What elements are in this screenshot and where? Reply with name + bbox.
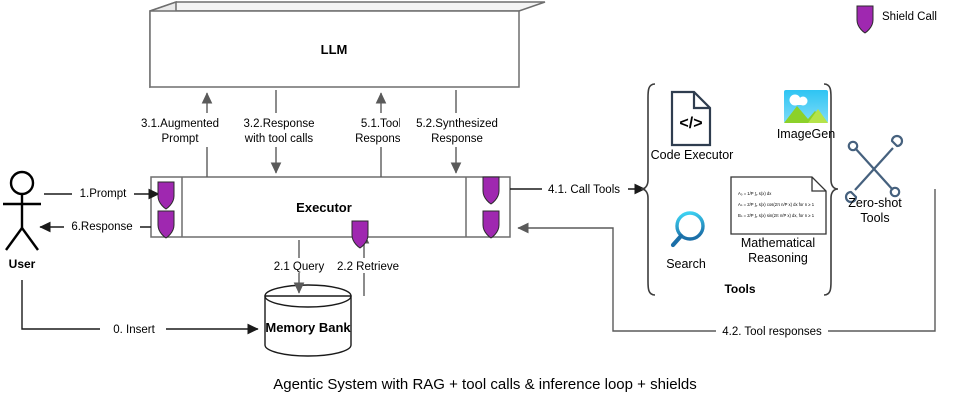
code-brackets-glyph: </> — [679, 115, 702, 132]
edge-retrieve: 2.2 Retrieve — [332, 233, 406, 296]
tools-group-label: Tools — [724, 282, 755, 296]
tool-math-label-line2: Reasoning — [748, 251, 808, 265]
edge-response-with-tool-calls: 3.2.Response with tool calls — [232, 90, 326, 173]
edge-response: 6.Response — [40, 219, 151, 234]
edge-call-tools: 4.1. Call Tools — [510, 181, 645, 196]
edge-synthesized-response-label-line1: 5.2.Synthesized — [416, 118, 498, 130]
executor-label: Executor — [296, 200, 352, 215]
edge-tool-responses-label: 4.2. Tool responses — [722, 326, 822, 338]
legend-shield-call: Shield Call — [857, 6, 937, 33]
edge-augmented-prompt-label-line1: 3.1.Augmented — [141, 118, 219, 130]
llm-node[interactable]: LLM — [150, 2, 545, 87]
tool-math-label-line1: Mathematical — [741, 236, 815, 250]
svg-text:Aₙ = 2/P ∫ₚ s(x) cos(2π n/P x): Aₙ = 2/P ∫ₚ s(x) cos(2π n/P x) dx for n … — [738, 202, 815, 207]
edge-insert-label: 0. Insert — [113, 324, 155, 336]
edge-synthesized-response-label-line2: Response — [431, 133, 483, 145]
diagram-caption: Agentic System with RAG + tool calls & i… — [273, 376, 697, 393]
user-right-leg — [22, 228, 38, 250]
tools-left-brace — [641, 84, 655, 295]
crossed-wrenches-icon — [846, 136, 902, 202]
edge-query-label: 2.1 Query — [274, 261, 325, 273]
user-head-icon — [11, 172, 33, 194]
edge-response-label: 6.Response — [71, 221, 132, 233]
legend-shield-icon — [857, 6, 873, 33]
edge-synthesized-response: 5.2.Synthesized Response — [400, 90, 514, 173]
diagram-svg: LLM Executor Memory Bank User 1.Prompt 6… — [0, 0, 970, 411]
tool-code-executor[interactable]: </> Code Executor — [651, 92, 734, 162]
edge-call-tools-label: 4.1. Call Tools — [548, 184, 620, 196]
edge-augmented-prompt-label-line2: Prompt — [161, 133, 199, 145]
user-actor[interactable]: User — [3, 172, 41, 271]
tool-imagegen[interactable]: ImageGen — [777, 90, 835, 141]
magnifier-icon — [673, 213, 703, 245]
executor-node[interactable]: Executor — [151, 177, 510, 237]
user-label: User — [9, 257, 36, 271]
edge-tool-response-label-line2: Response — [355, 133, 407, 145]
edge-insert: 0. Insert — [22, 280, 258, 336]
tool-search[interactable]: Search — [666, 213, 706, 271]
shield-executor-memory[interactable] — [352, 221, 368, 248]
tool-search-label: Search — [666, 257, 706, 271]
tool-zero-shot[interactable]: Zero-shot Tools — [846, 136, 902, 225]
svg-text:Bₙ = 2/P ∫ₚ s(x) sin(2π n/P x): Bₙ = 2/P ∫ₚ s(x) sin(2π n/P x) dx, for n… — [738, 213, 815, 218]
edge-response-tool-calls-label-line2: with tool calls — [244, 133, 314, 145]
tool-zero-shot-label-line2: Tools — [860, 211, 889, 225]
memory-bank-label: Memory Bank — [265, 320, 351, 335]
tool-code-executor-label: Code Executor — [651, 148, 734, 162]
edge-prompt: 1.Prompt — [44, 186, 159, 201]
edge-tool-response-label-line1: 5.1.Tool — [361, 118, 401, 130]
svg-text:A₀ = 1/P ∫ₚ s(x) dx: A₀ = 1/P ∫ₚ s(x) dx — [738, 191, 772, 196]
legend-shield-call-label: Shield Call — [882, 11, 937, 23]
tool-imagegen-label: ImageGen — [777, 127, 835, 141]
edge-response-tool-calls-label-line1: 3.2.Response — [244, 118, 315, 130]
user-left-leg — [6, 228, 22, 250]
diagram-canvas: LLM Executor Memory Bank User 1.Prompt 6… — [0, 0, 970, 411]
llm-label: LLM — [321, 42, 348, 57]
tool-mathematical-reasoning[interactable]: A₀ = 1/P ∫ₚ s(x) dx Aₙ = 2/P ∫ₚ s(x) cos… — [731, 177, 826, 265]
memory-bank-node[interactable]: Memory Bank — [265, 285, 351, 356]
tool-zero-shot-label-line1: Zero-shot — [848, 196, 902, 210]
edge-retrieve-label: 2.2 Retrieve — [337, 261, 399, 273]
edge-prompt-label: 1.Prompt — [80, 188, 127, 200]
llm-top-face — [150, 2, 545, 11]
